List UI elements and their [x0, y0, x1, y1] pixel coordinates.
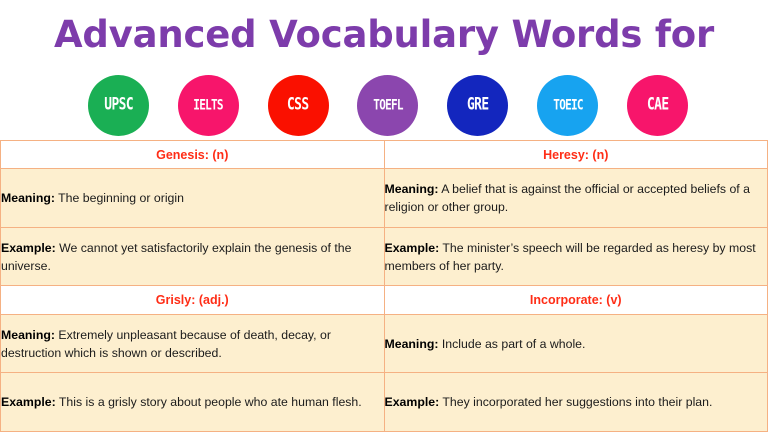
example-label: Example: [385, 395, 440, 409]
example-text: Example: They incorporated her suggestio… [385, 395, 713, 409]
vocabulary-infographic: Advanced Vocabulary Words for UPSC IELTS… [0, 0, 768, 432]
table-row-examples-2: Example: This is a grisly story about pe… [1, 373, 768, 432]
table-row-word-headers-2: Grisly: (adj.) Incorporate: (v) [1, 286, 768, 314]
vocabulary-table: Genesis: (n) Heresy: (n) Meaning: The be… [0, 140, 768, 432]
meaning-label: Meaning: [385, 337, 439, 351]
page-title: Advanced Vocabulary Words for [0, 12, 768, 58]
badge-upsc[interactable]: UPSC [88, 75, 149, 136]
meaning-cell-grisly: Meaning: Extremely unpleasant because of… [1, 314, 385, 373]
example-value: They incorporated her suggestions into t… [442, 395, 712, 409]
word-header-heresy: Heresy: (n) [384, 141, 768, 169]
badge-cae-label: CAE [647, 97, 669, 114]
meaning-label: Meaning: [1, 328, 55, 342]
header-section: Advanced Vocabulary Words for UPSC IELTS… [0, 0, 768, 140]
meaning-cell-heresy: Meaning: A belief that is against the of… [384, 169, 768, 228]
word-title: Incorporate: (v) [530, 293, 622, 307]
badge-ielts[interactable]: IELTS [178, 75, 239, 136]
badge-cae[interactable]: CAE [627, 75, 688, 136]
badge-toefl-label: TOEFL [373, 98, 403, 112]
example-cell-genesis: Example: We cannot yet satisfactorily ex… [1, 227, 385, 286]
badge-toeic[interactable]: TOEIC [537, 75, 598, 136]
meaning-label: Meaning: [385, 182, 439, 196]
badge-ielts-label: IELTS [194, 98, 224, 112]
meaning-text: Meaning: Include as part of a whole. [385, 337, 586, 351]
badge-css-label: CSS [287, 97, 309, 114]
example-label: Example: [1, 395, 56, 409]
badge-css[interactable]: CSS [268, 75, 329, 136]
meaning-cell-incorporate: Meaning: Include as part of a whole. [384, 314, 768, 373]
example-label: Example: [385, 241, 440, 255]
table-row-examples-1: Example: We cannot yet satisfactorily ex… [1, 227, 768, 286]
example-value: The minister’s speech will be regarded a… [385, 241, 756, 273]
badge-toeic-label: TOEIC [553, 98, 583, 112]
meaning-text: Meaning: Extremely unpleasant because of… [1, 328, 331, 360]
meaning-text: Meaning: A belief that is against the of… [385, 182, 750, 214]
word-title: Heresy: (n) [543, 148, 608, 162]
badge-gre[interactable]: GRE [447, 75, 508, 136]
example-cell-heresy: Example: The minister’s speech will be r… [384, 227, 768, 286]
word-title: Grisly: (adj.) [156, 293, 229, 307]
meaning-label: Meaning: [1, 191, 55, 205]
meaning-value: The beginning or origin [58, 191, 184, 205]
meaning-text: Meaning: The beginning or origin [1, 191, 184, 205]
word-title: Genesis: (n) [156, 148, 228, 162]
meaning-value: Include as part of a whole. [442, 337, 586, 351]
example-value: This is a grisly story about people who … [59, 395, 362, 409]
badge-gre-label: GRE [467, 97, 489, 114]
table-row-meanings-2: Meaning: Extremely unpleasant because of… [1, 314, 768, 373]
word-header-genesis: Genesis: (n) [1, 141, 385, 169]
example-cell-grisly: Example: This is a grisly story about pe… [1, 373, 385, 432]
badge-toefl[interactable]: TOEFL [357, 75, 418, 136]
exam-badge-row: UPSC IELTS CSS TOEFL GRE TOEIC CAE [88, 74, 688, 136]
example-cell-incorporate: Example: They incorporated her suggestio… [384, 373, 768, 432]
example-text: Example: This is a grisly story about pe… [1, 395, 362, 409]
example-label: Example: [1, 241, 56, 255]
example-text: Example: We cannot yet satisfactorily ex… [1, 241, 351, 273]
table-row-meanings-1: Meaning: The beginning or origin Meaning… [1, 169, 768, 228]
meaning-value: A belief that is against the official or… [385, 182, 750, 214]
table-row-word-headers-1: Genesis: (n) Heresy: (n) [1, 141, 768, 169]
example-text: Example: The minister’s speech will be r… [385, 241, 756, 273]
meaning-cell-genesis: Meaning: The beginning or origin [1, 169, 385, 228]
word-header-incorporate: Incorporate: (v) [384, 286, 768, 314]
word-header-grisly: Grisly: (adj.) [1, 286, 385, 314]
badge-upsc-label: UPSC [104, 97, 133, 114]
